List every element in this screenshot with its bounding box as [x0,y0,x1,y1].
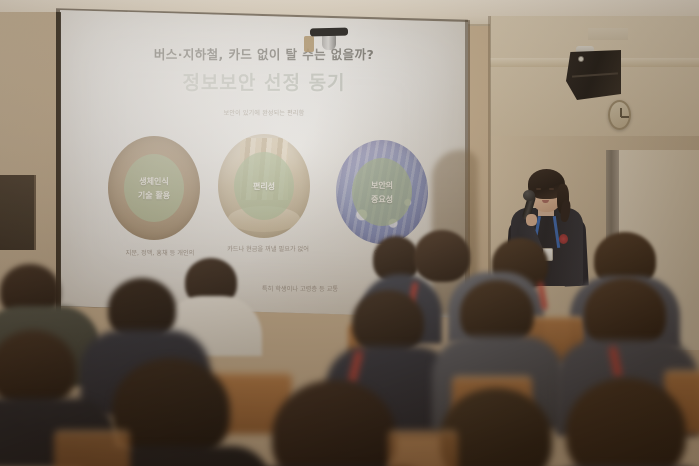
circle-label-line1: 생체인식 [139,176,168,187]
speaker-screw [578,56,584,62]
slide-caption: 보안이 있기에 완성되는 편리함 [60,108,468,117]
presenter-eye-right [549,188,554,190]
ceiling-spotlight-icon [310,28,348,37]
slide-subtitle-top: 버스·지하철, 카드 없이 탈 수는 없을까? [60,44,468,63]
spotlight-arm [322,34,336,50]
circle-core: 편리성 [234,152,294,220]
audience-head [352,290,424,354]
audience-head [0,330,76,408]
ceiling-vent [588,28,628,40]
chair-back [388,430,458,466]
circle-core: 생체인식 기술 활용 [124,154,184,222]
ceiling-bracket [304,36,314,52]
circle-label-line1: 보안의 [371,180,393,191]
circle-label-line1: 편리성 [253,181,275,192]
wall-clock-icon [608,100,631,130]
audience-head [414,230,470,282]
chair-back [54,430,130,466]
presenter-hand [526,214,537,226]
circle-biometrics: 생체인식 기술 활용 [108,136,200,240]
audience [0,230,699,466]
circle-label-line2: 중요성 [371,194,393,205]
circle-core: 보안의 중요성 [352,158,412,226]
presenter-eye-left [536,188,541,190]
circle-convenience: 편리성 [218,134,310,238]
circle-security: 보안의 중요성 [336,140,428,244]
slide-title: 정보보안 선정 동기 [60,68,468,95]
circle-label-line2: 기술 활용 [138,190,170,201]
photo-scene: 버스·지하철, 카드 없이 탈 수는 없을까? 정보보안 선정 동기 보안이 있… [0,0,699,466]
microphone-head [523,190,535,201]
